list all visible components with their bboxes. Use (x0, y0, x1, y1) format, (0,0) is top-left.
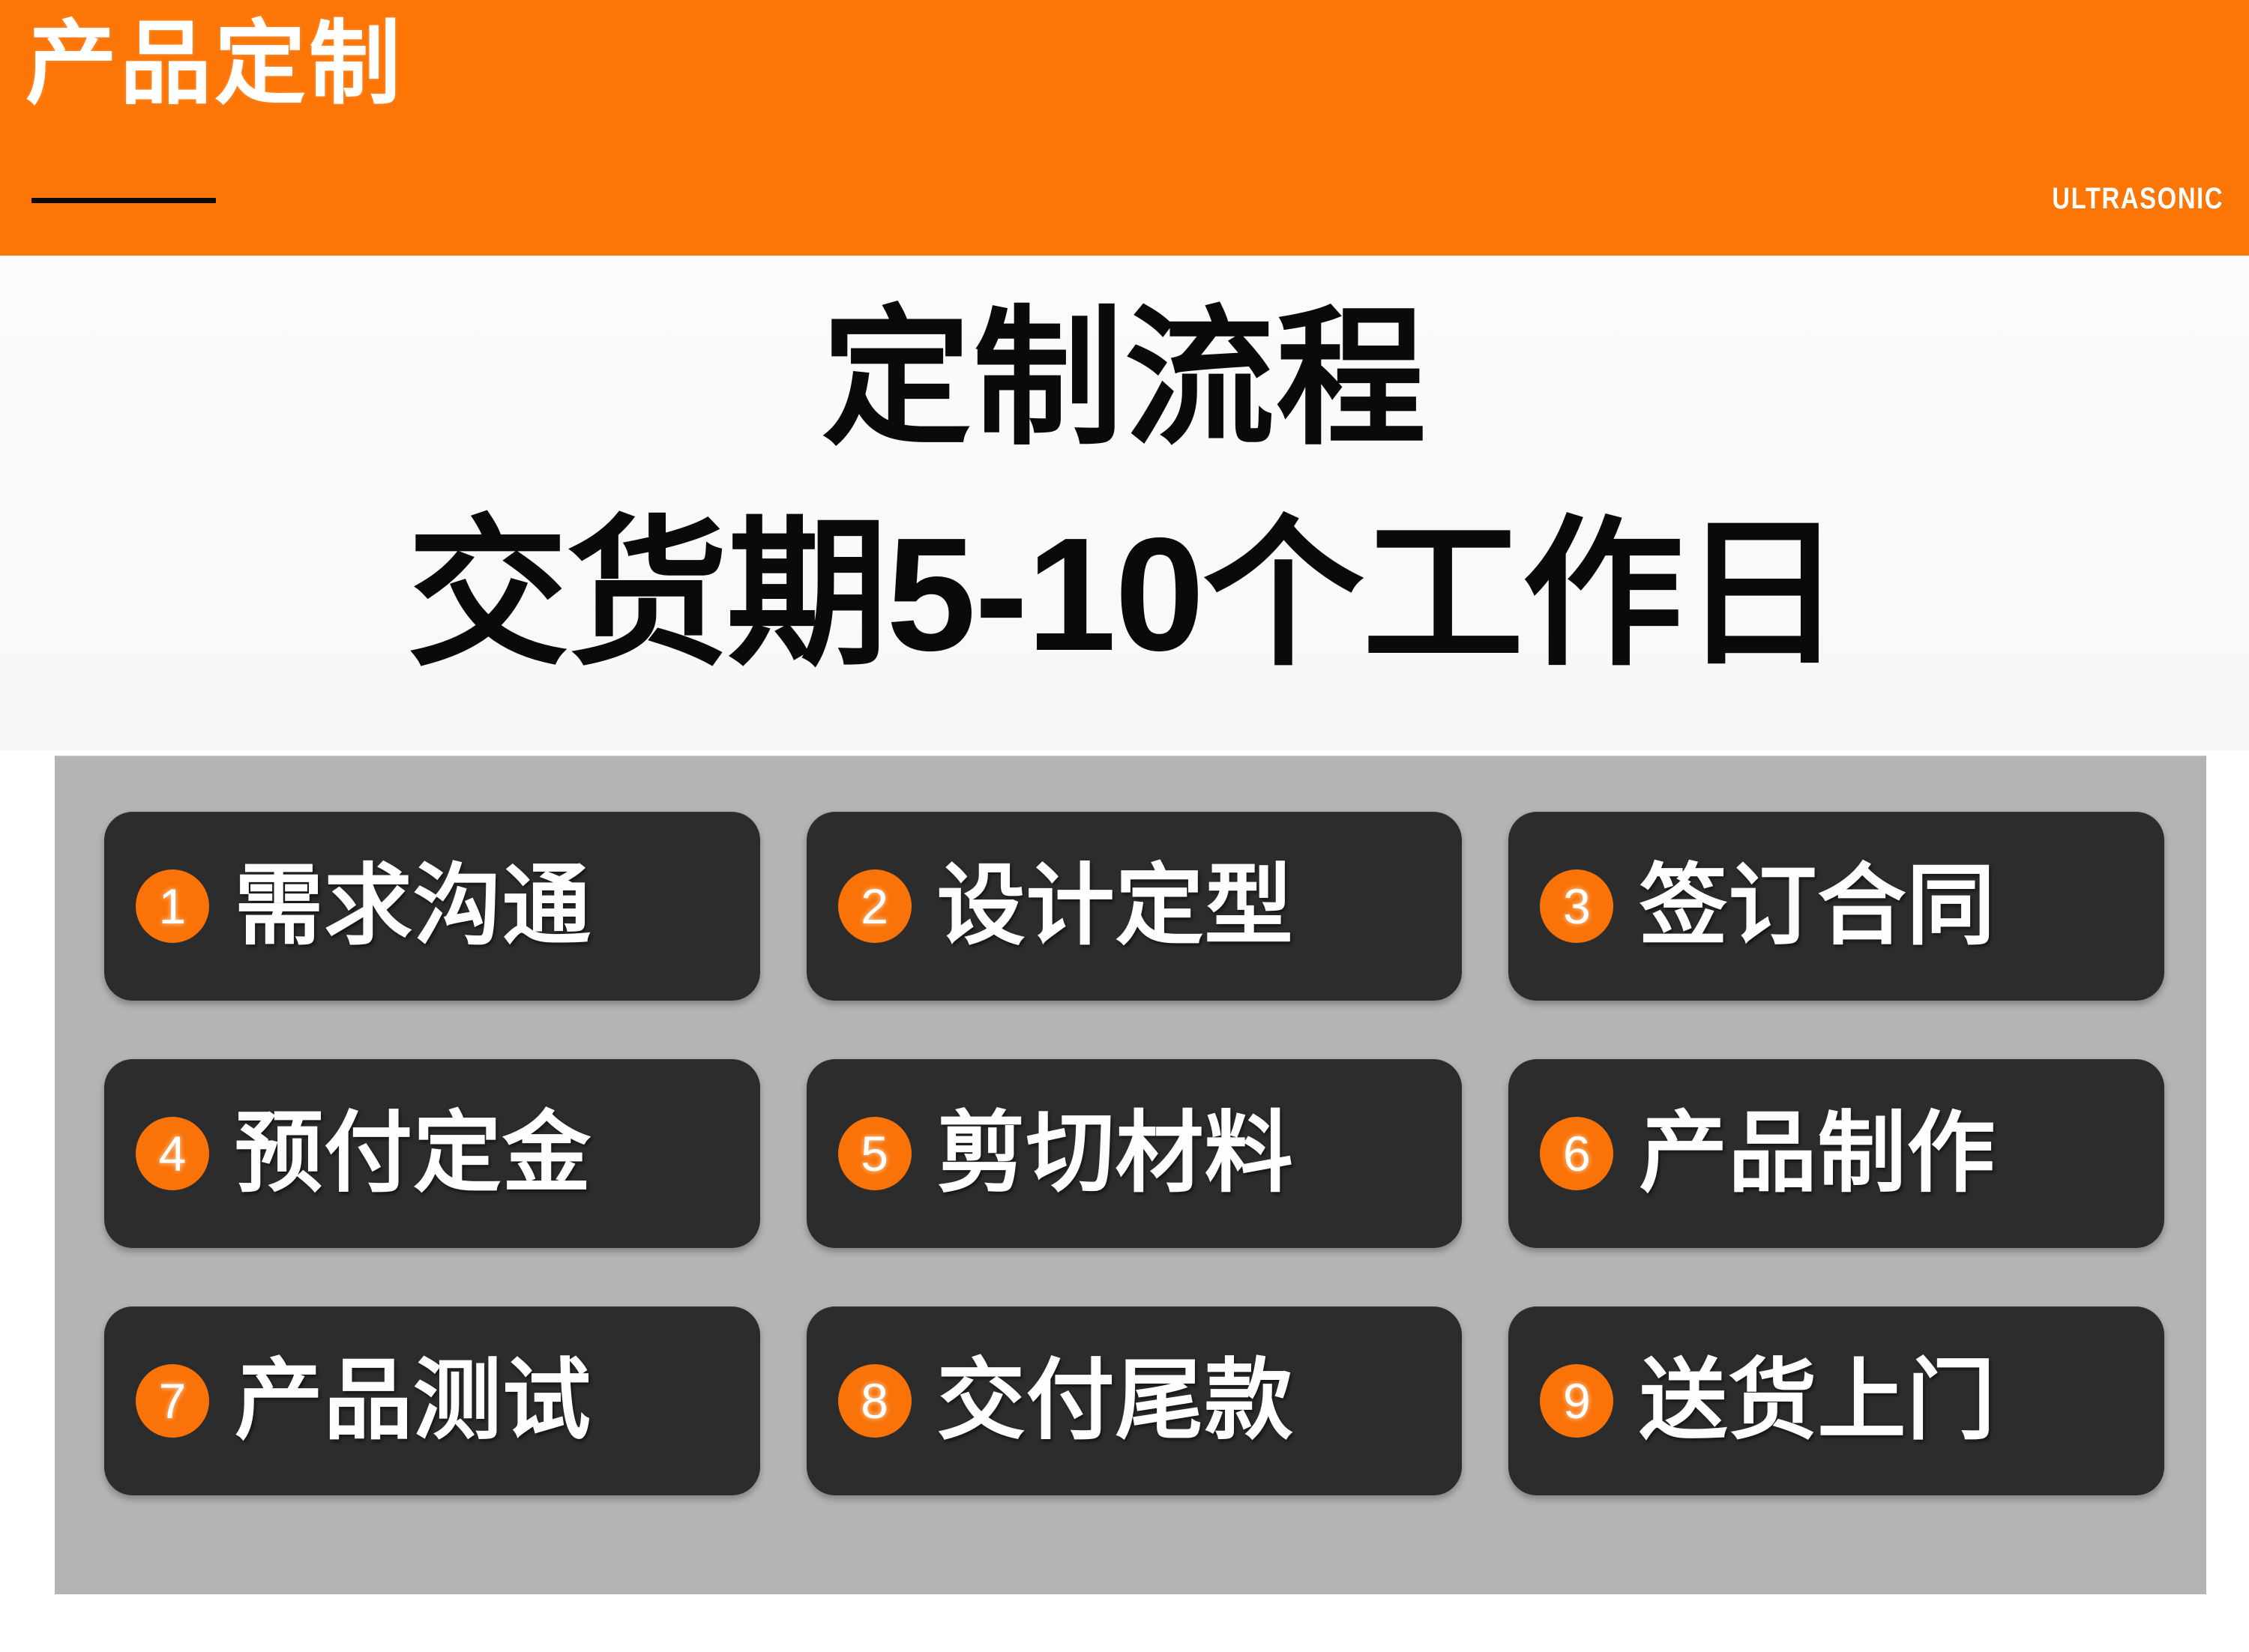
step-number-badge: 6 (1540, 1117, 1613, 1190)
page-header: 产品定制 ULTRASONIC (0, 0, 2249, 256)
step-number-badge: 5 (838, 1117, 912, 1190)
process-step-3[interactable]: 3 签订合同 (1508, 812, 2164, 1001)
step-number-badge: 2 (838, 869, 912, 943)
process-steps-panel: 1 需求沟通 2 设计定型 3 签订合同 4 预付定金 5 剪切材料 6 (55, 756, 2206, 1594)
step-label: 预付定金 (235, 1109, 591, 1198)
headline-primary: 定制流程 (0, 301, 2249, 458)
step-number-badge: 4 (136, 1117, 209, 1190)
step-label: 设计定型 (937, 862, 1294, 950)
process-step-5[interactable]: 5 剪切材料 (807, 1059, 1463, 1248)
customization-process-banner: 产品定制 ULTRASONIC 定制流程 交货期5-10个工作日 1 需求沟通 … (0, 0, 2249, 1652)
process-step-2[interactable]: 2 设计定型 (807, 812, 1463, 1001)
process-step-1[interactable]: 1 需求沟通 (104, 812, 760, 1001)
step-label: 送货上门 (1639, 1357, 1996, 1445)
process-step-8[interactable]: 8 交付尾款 (807, 1306, 1463, 1495)
step-number-badge: 3 (1540, 869, 1613, 943)
page-title: 产品定制 (25, 18, 403, 109)
step-number-badge: 8 (838, 1364, 912, 1438)
process-step-9[interactable]: 9 送货上门 (1508, 1306, 2164, 1495)
step-label: 交付尾款 (937, 1357, 1294, 1445)
headline-secondary: 交货期5-10个工作日 (0, 510, 2249, 679)
step-number-badge: 7 (136, 1364, 209, 1438)
process-step-4[interactable]: 4 预付定金 (104, 1059, 760, 1248)
step-number-badge: 1 (136, 869, 209, 943)
process-steps-grid: 1 需求沟通 2 设计定型 3 签订合同 4 预付定金 5 剪切材料 6 (104, 812, 2164, 1495)
step-label: 产品测试 (235, 1357, 591, 1445)
process-step-7[interactable]: 7 产品测试 (104, 1306, 760, 1495)
step-label: 产品制作 (1639, 1109, 1996, 1198)
headline-block: 定制流程 交货期5-10个工作日 (0, 256, 2249, 750)
step-label: 需求沟通 (235, 862, 591, 950)
step-label: 签订合同 (1639, 862, 1996, 950)
step-number-badge: 9 (1540, 1364, 1613, 1438)
process-step-6[interactable]: 6 产品制作 (1508, 1059, 2164, 1248)
brand-wordmark: ULTRASONIC (2052, 182, 2224, 216)
step-label: 剪切材料 (937, 1109, 1294, 1198)
title-underline-rule (31, 198, 216, 203)
